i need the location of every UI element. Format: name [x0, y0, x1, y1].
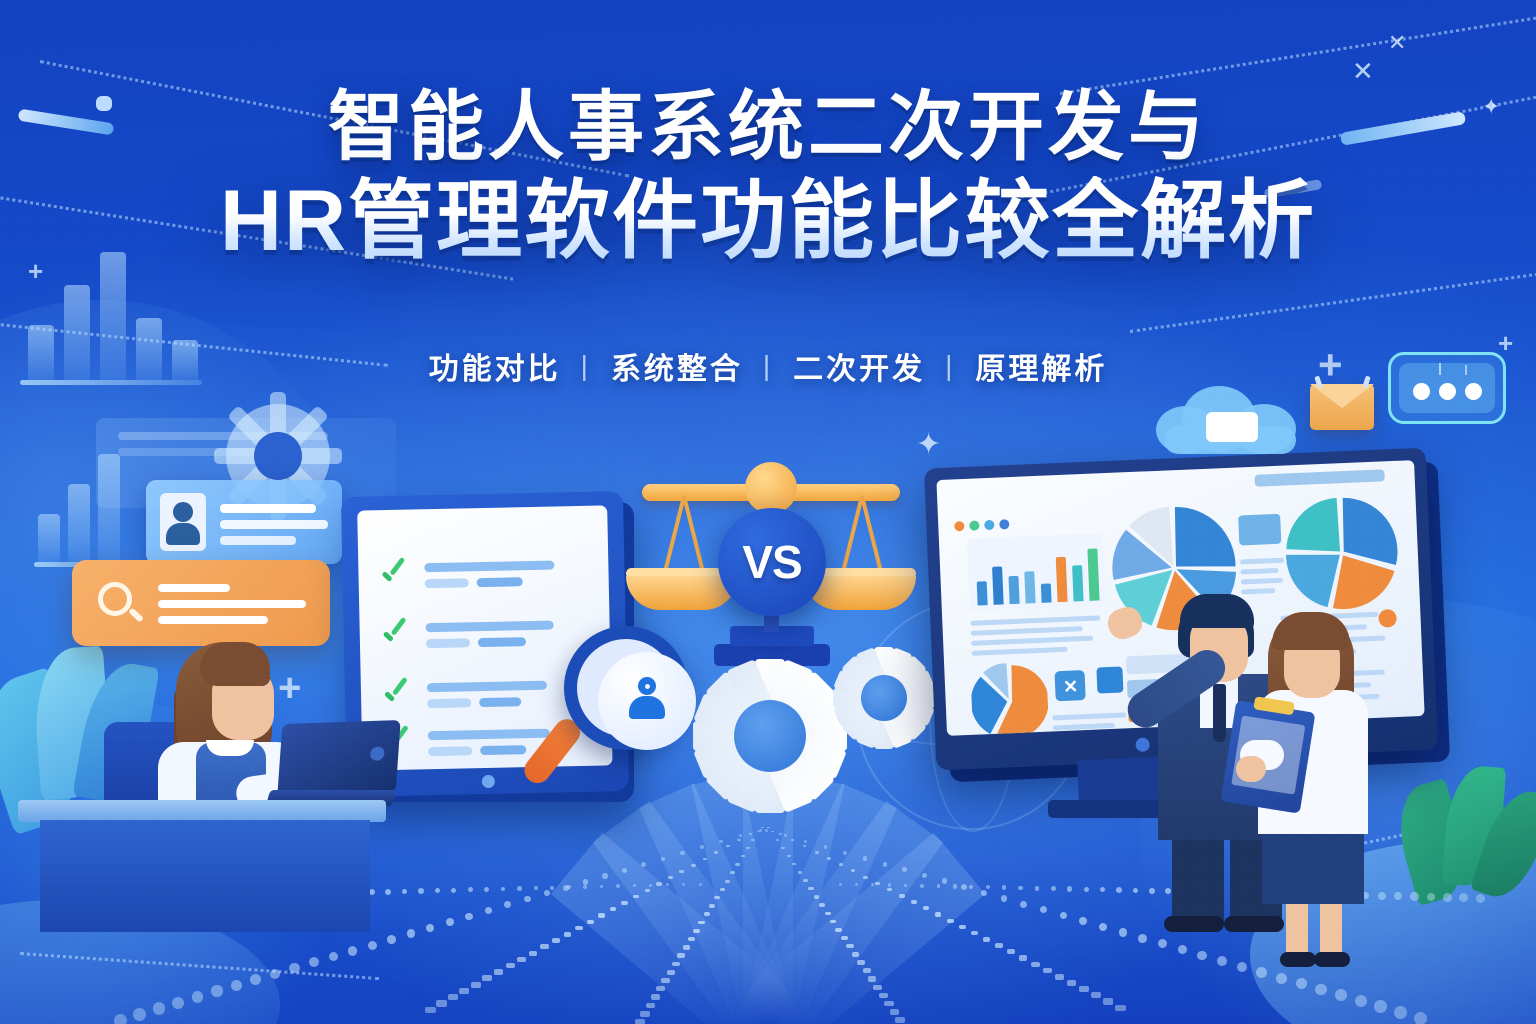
envelope-flap: [1310, 384, 1374, 414]
subtitle-separator: |: [763, 350, 773, 382]
text-line: [971, 636, 1093, 646]
image-thumb: [1238, 514, 1281, 546]
pie-chart-small: [970, 662, 1049, 736]
bar: [992, 566, 1004, 604]
envelope-icon: [1310, 384, 1374, 430]
chat-bubble-icon: [1388, 352, 1506, 424]
bar: [1056, 557, 1068, 602]
bar: [1024, 571, 1035, 603]
subtitle-item-2: 系统整合: [611, 344, 743, 388]
text-line: [1241, 578, 1283, 585]
window-dot: [969, 520, 979, 530]
check-mark-icon: [379, 620, 410, 651]
vs-label: VS: [742, 535, 801, 589]
bar: [1087, 548, 1099, 600]
bar: [977, 581, 988, 605]
gear-icon: [706, 672, 834, 800]
vs-badge: VS: [718, 508, 826, 616]
balance-scale-icon: VS: [626, 440, 916, 670]
page-title-line2: HR管理软件功能比较全解析: [0, 176, 1536, 266]
text-line: [971, 626, 1083, 636]
desk-body: [40, 820, 370, 932]
tile: [1096, 667, 1123, 694]
text-line: [1240, 558, 1284, 565]
subtitle-separator: |: [581, 350, 591, 382]
text-line: [972, 647, 1068, 656]
pie-chart-right: [1284, 495, 1401, 612]
cloud-icon: [1156, 382, 1304, 454]
search-bar-card[interactable]: [72, 560, 330, 646]
check-mark-icon: [378, 560, 409, 591]
text-line: [1240, 568, 1278, 575]
subtitle-item-4: 原理解析: [975, 344, 1107, 388]
bar: [1008, 576, 1019, 604]
employee-profile-card: [146, 480, 342, 564]
tablet-home-indicator: [482, 775, 495, 788]
text-line: [1053, 723, 1115, 731]
bar: [1139, 727, 1149, 735]
bar-chart-panel: [967, 533, 1106, 611]
header-bar: [1254, 469, 1384, 486]
gear-icon: [842, 656, 926, 740]
subtitle-item-1: 功能对比: [429, 344, 561, 388]
laptop-screen: [277, 720, 400, 796]
text-line: [1052, 712, 1126, 720]
sparkle-icon: ✕: [1063, 676, 1079, 698]
window-dot: [984, 520, 994, 530]
avatar: [160, 493, 206, 551]
window-dot: [954, 521, 964, 531]
poster-title-block: 智能人事系统二次开发与 HR管理软件功能比较全解析: [0, 88, 1536, 266]
subtitle-block: 功能对比 | 系统整合 | 二次开发 | 原理解析: [0, 344, 1536, 388]
desk-top: [18, 800, 386, 822]
subtitle-item-3: 二次开发: [793, 344, 925, 388]
window-dot: [999, 519, 1009, 529]
page-title-line1: 智能人事系统二次开发与: [0, 88, 1536, 168]
bar: [1072, 565, 1083, 601]
poster-canvas: ✕ ✕ ✦ ✦ + + + + +: [0, 0, 1536, 1024]
text-line: [970, 615, 1100, 625]
bar: [1041, 583, 1052, 602]
text-line: [1241, 588, 1275, 594]
subtitle-separator: |: [945, 350, 955, 382]
person-glyph: [629, 677, 665, 719]
check-mark-icon: [381, 680, 412, 711]
status-dot: [1378, 609, 1397, 628]
